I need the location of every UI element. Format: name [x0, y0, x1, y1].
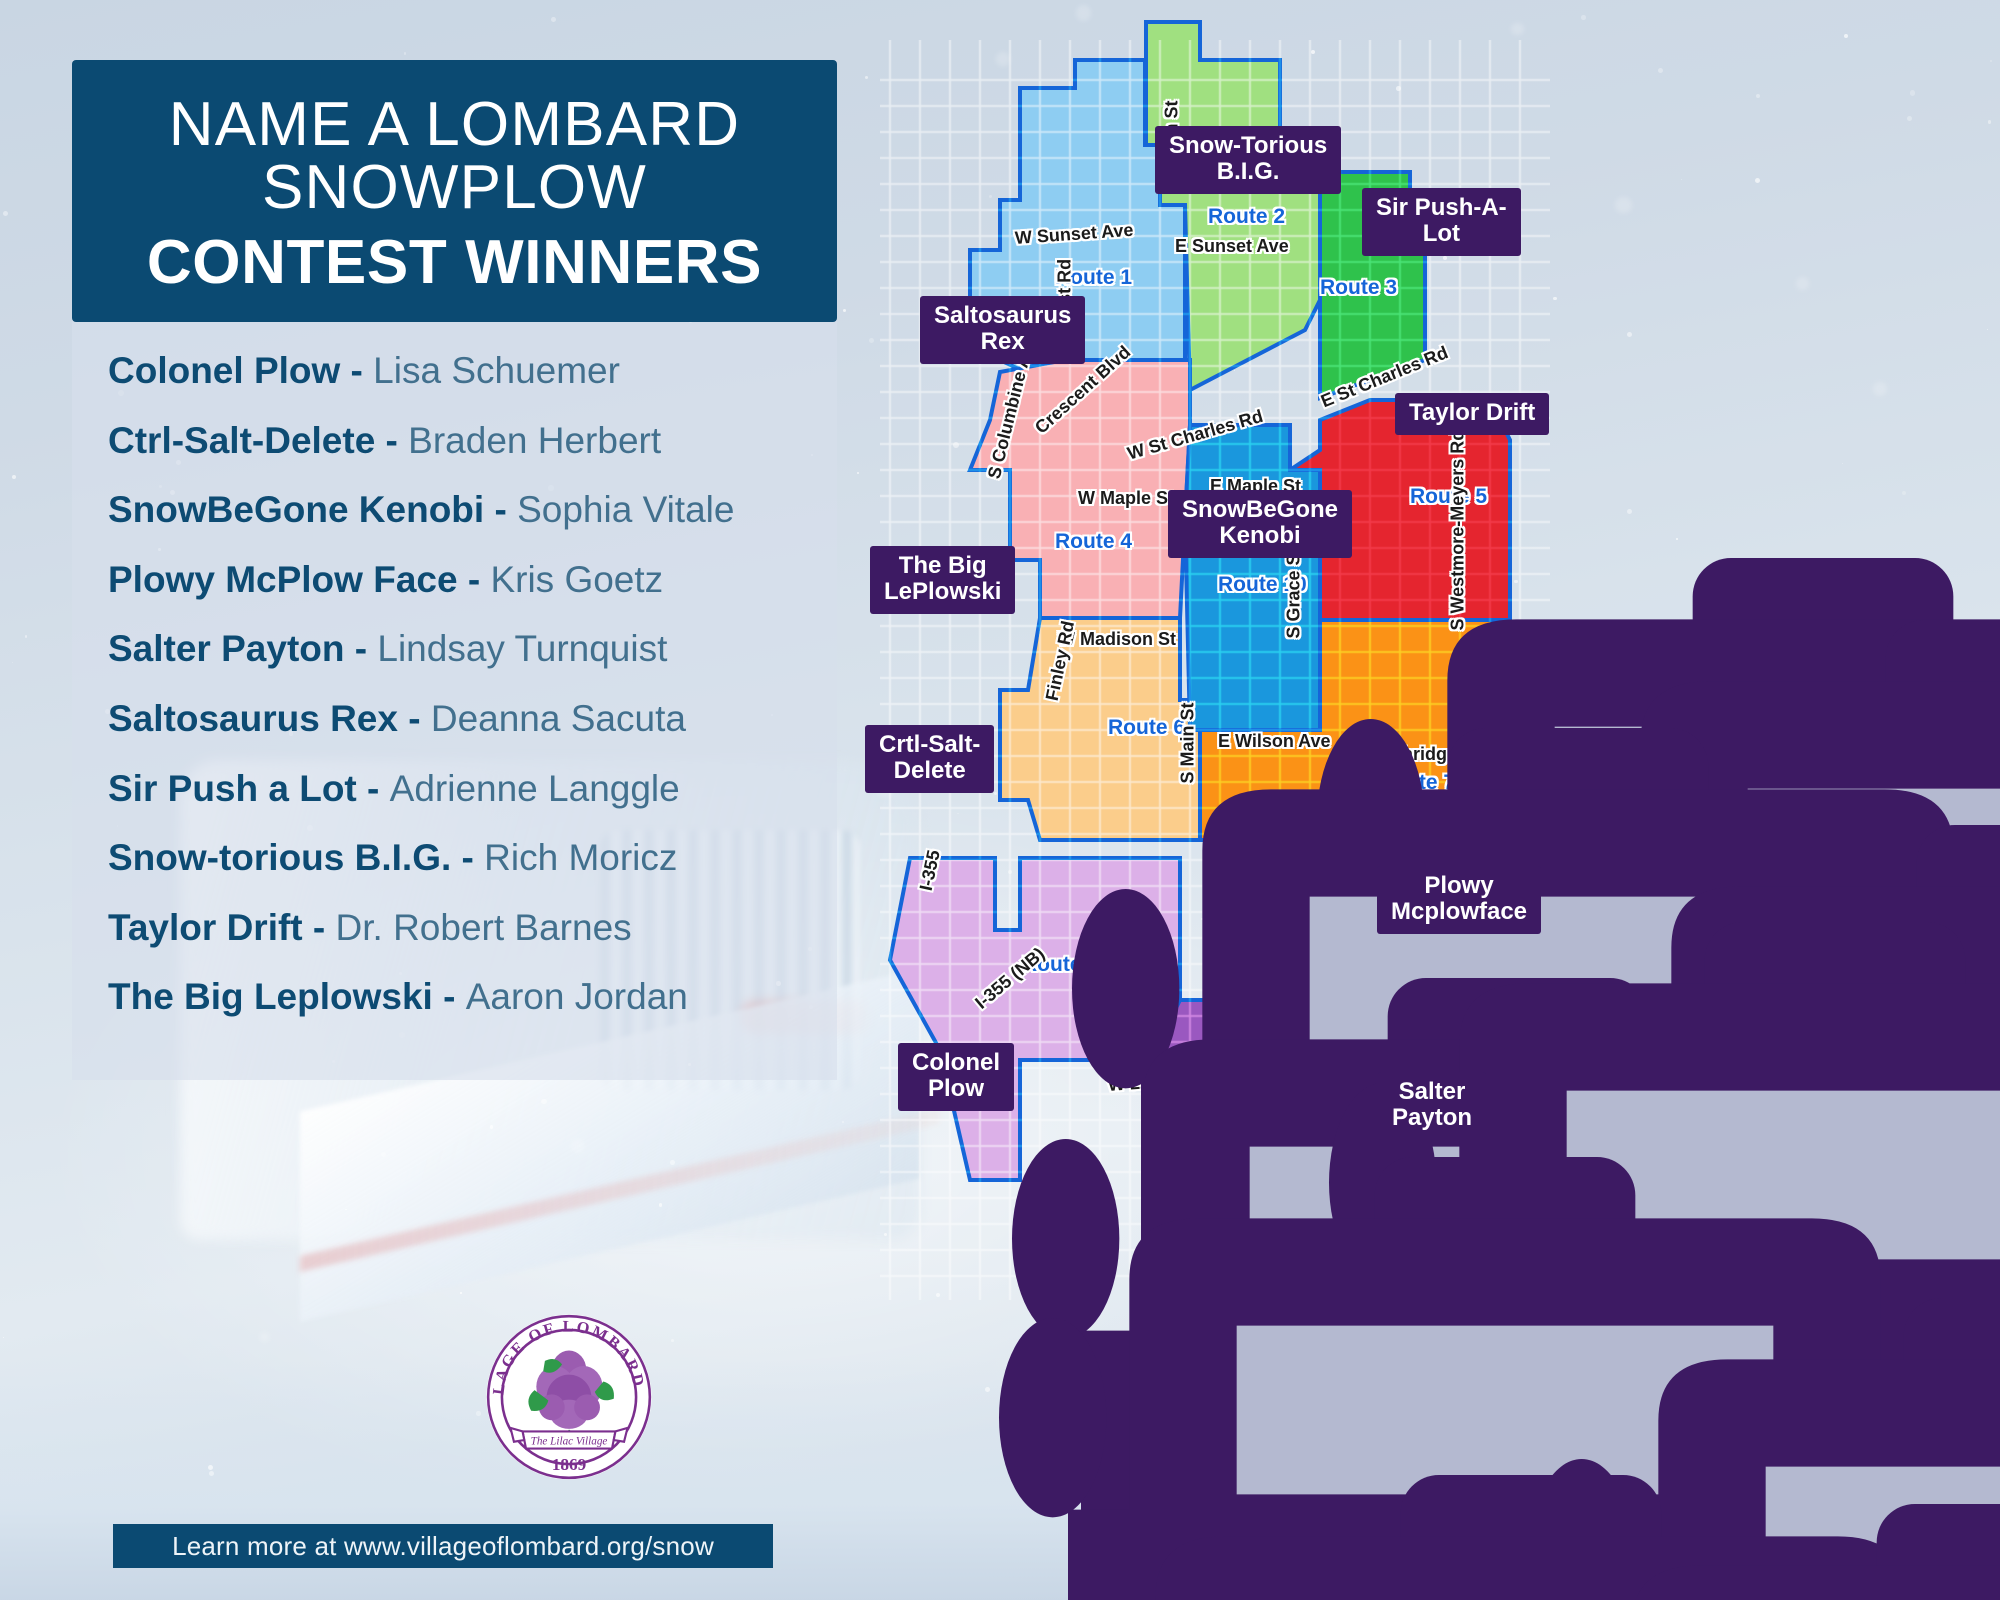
winner-person-name: Lindsay Turnquist	[377, 628, 667, 669]
plow-callout[interactable]: Sir Push-A- Lot	[1362, 188, 1521, 256]
plow-callout[interactable]: Snow-Torious B.I.G.	[1155, 126, 1341, 194]
footer-url-bar[interactable]: Learn more at www.villageoflombard.org/s…	[113, 1524, 773, 1568]
winner-plow-name: Snow-torious B.I.G.	[108, 837, 451, 878]
winner-person-name: Adrienne Langgle	[390, 768, 680, 809]
winner-plow-name: Plowy McPlow Face	[108, 559, 458, 600]
winner-person-name: Aaron Jordan	[466, 976, 688, 1017]
plow-callout[interactable]: Salter Payton	[1378, 1072, 1486, 1140]
winner-person-name: Lisa Schuemer	[373, 350, 620, 391]
winner-separator: -	[357, 768, 390, 809]
winners-list: Colonel Plow - Lisa SchuemerCtrl-Salt-De…	[108, 352, 848, 1048]
winner-row: Colonel Plow - Lisa Schuemer	[108, 352, 848, 389]
winner-person-name: Deanna Sacuta	[431, 698, 686, 739]
winner-person-name: Sophia Vitale	[517, 489, 734, 530]
winner-plow-name: Salter Payton	[108, 628, 344, 669]
snowplow-truck-icon	[1432, 1072, 2000, 1600]
winner-separator: -	[458, 559, 491, 600]
winner-separator: -	[484, 489, 517, 530]
winner-row: SnowBeGone Kenobi - Sophia Vitale	[108, 491, 848, 528]
winner-plow-name: Saltosaurus Rex	[108, 698, 398, 739]
plow-callout[interactable]: Crtl-Salt- Delete	[865, 725, 994, 793]
winner-row: Sir Push a Lot - Adrienne Langgle	[108, 770, 848, 807]
winner-person-name: Rich Moricz	[484, 837, 677, 878]
page-title: NAME A LOMBARD SNOWPLOW CONTEST WINNERS	[72, 60, 837, 322]
plow-callout[interactable]: Colonel Plow	[898, 1043, 1014, 1111]
winner-row: Taylor Drift - Dr. Robert Barnes	[108, 909, 848, 946]
plow-callout[interactable]: Plowy Mcplowface	[1377, 866, 1541, 934]
winner-row: Salter Payton - Lindsay Turnquist	[108, 630, 848, 667]
winner-plow-name: Taylor Drift	[108, 907, 303, 948]
winner-person-name: Dr. Robert Barnes	[336, 907, 632, 948]
winner-row: Saltosaurus Rex - Deanna Sacuta	[108, 700, 848, 737]
winner-separator: -	[398, 698, 431, 739]
snowplow-route-map[interactable]: Route 1Route 2Route 3Route 4Route 5Route…	[850, 0, 2000, 1600]
winner-plow-name: The Big Leplowski	[108, 976, 433, 1017]
winner-plow-name: Sir Push a Lot	[108, 768, 357, 809]
title-line-1: NAME A LOMBARD	[169, 93, 741, 156]
plow-callout[interactable]: SnowBeGone Kenobi	[1168, 490, 1352, 558]
winner-row: Snow-torious B.I.G. - Rich Moricz	[108, 839, 848, 876]
winner-plow-name: Colonel Plow	[108, 350, 340, 391]
plow-callout[interactable]: The Big LePlowski	[870, 546, 1015, 614]
winner-row: The Big Leplowski - Aaron Jordan	[108, 978, 848, 1015]
winner-person-name: Braden Herbert	[408, 420, 661, 461]
plow-callout[interactable]: Saltosaurus Rex	[920, 296, 1085, 364]
footer-url-text: Learn more at www.villageoflombard.org/s…	[172, 1531, 714, 1562]
title-line-3: CONTEST WINNERS	[147, 228, 762, 297]
winner-separator: -	[303, 907, 336, 948]
winner-plow-name: SnowBeGone Kenobi	[108, 489, 484, 530]
village-seal-logo: VILLAGE OF LOMBARD · IL The Lilac Villag…	[483, 1311, 655, 1483]
winner-separator: -	[433, 976, 466, 1017]
seal-year: 1869	[552, 1455, 586, 1474]
winner-person-name: Kris Goetz	[490, 559, 663, 600]
title-line-2: SNOWPLOW	[262, 156, 647, 219]
winner-plow-name: Ctrl-Salt-Delete	[108, 420, 375, 461]
winner-separator: -	[451, 837, 484, 878]
winner-row: Ctrl-Salt-Delete - Braden Herbert	[108, 422, 848, 459]
seal-banner-text: The Lilac Village	[531, 1435, 608, 1447]
winner-separator: -	[340, 350, 373, 391]
winner-separator: -	[344, 628, 377, 669]
winner-separator: -	[375, 420, 408, 461]
winner-row: Plowy McPlow Face - Kris Goetz	[108, 561, 848, 598]
plow-callout[interactable]: Taylor Drift	[1395, 393, 1549, 435]
